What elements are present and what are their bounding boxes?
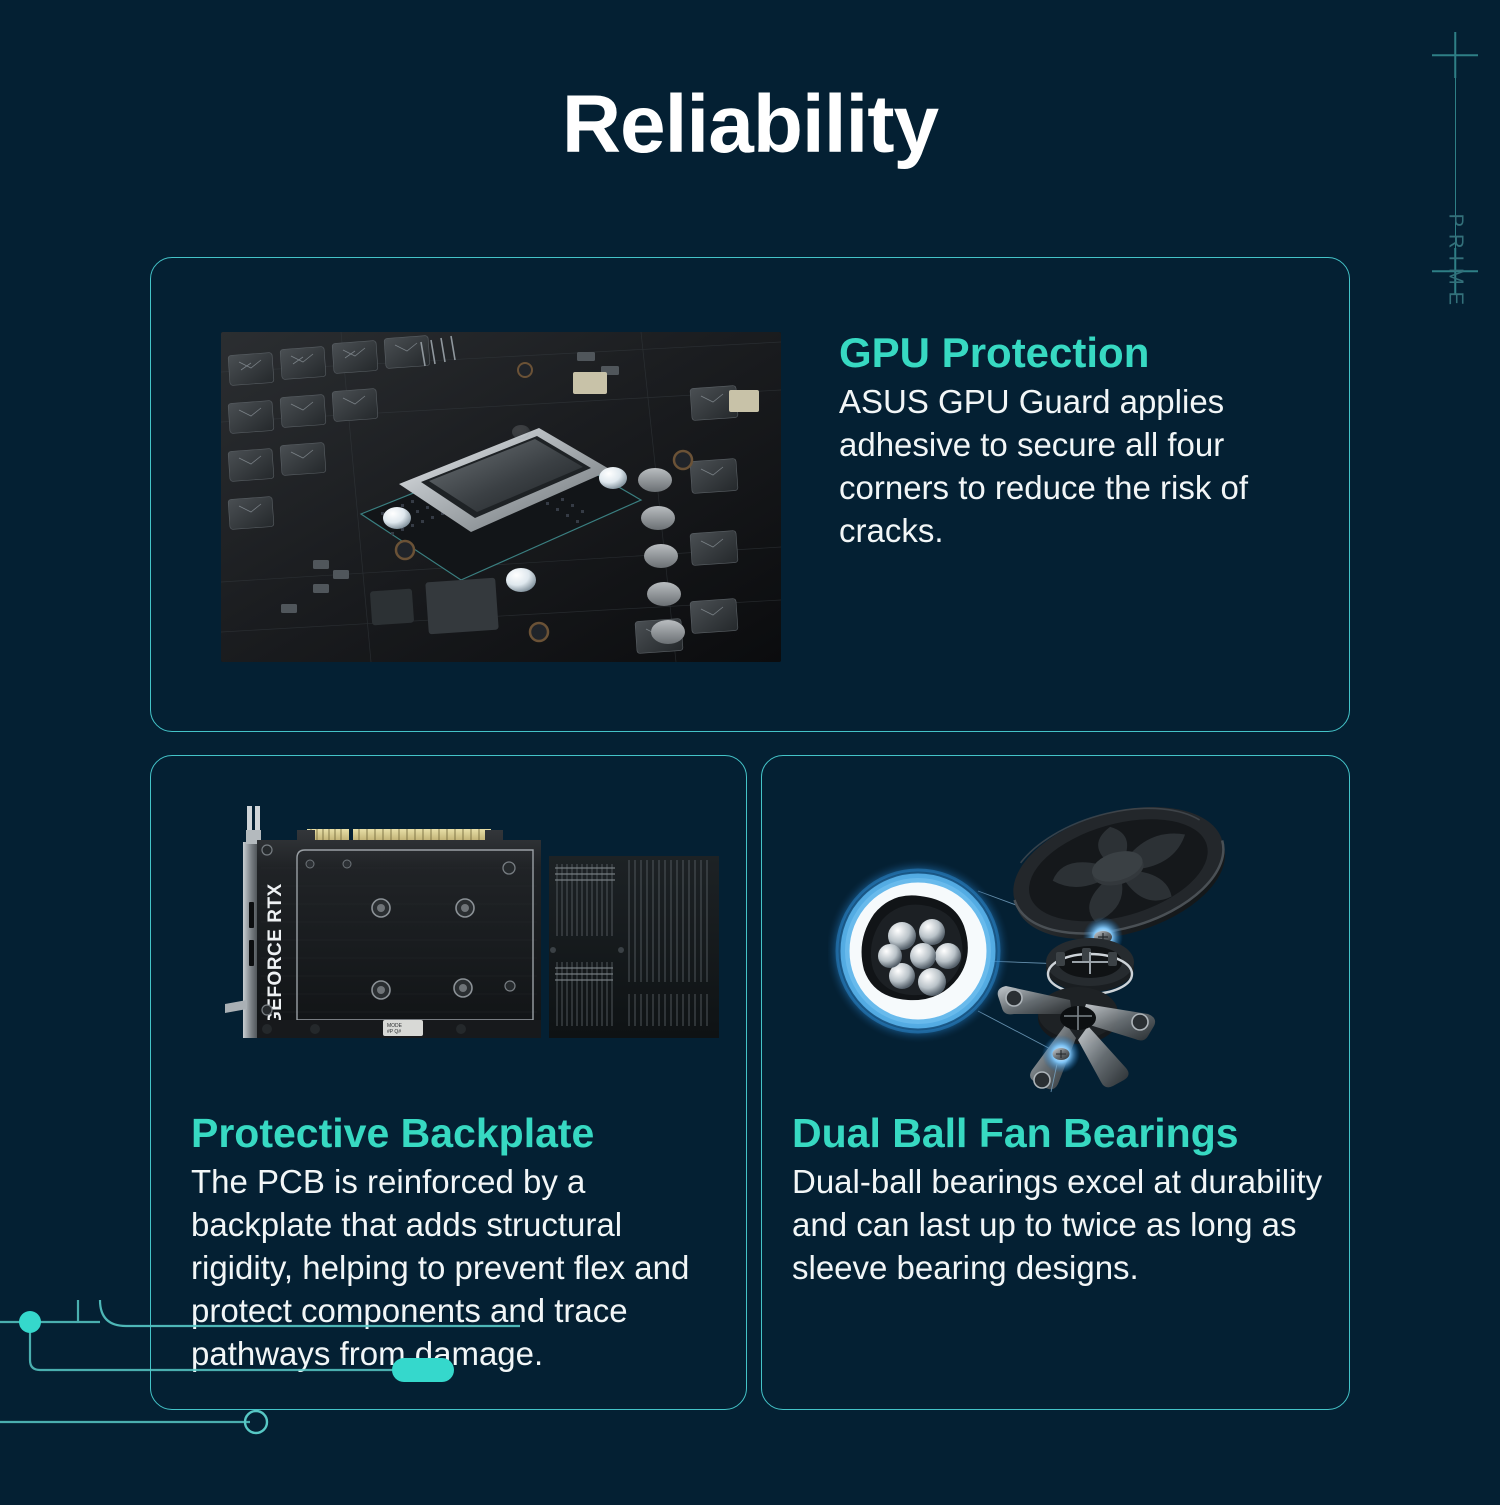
feature-card-gpu-protection: GPU Protection ASUS GPU Guard applies ad… xyxy=(150,257,1350,732)
circuit-filled-dot xyxy=(19,1311,41,1333)
dual-ball-fan-bearings-image xyxy=(828,796,1303,1096)
protective-backplate-body: The PCB is reinforced by a backplate tha… xyxy=(191,1161,731,1375)
dual-ball-fan-bearings-text-block: Dual Ball Fan Bearings Dual-ball bearing… xyxy=(792,1111,1352,1290)
feature-card-protective-backplate: GEFORCE RTX xyxy=(150,755,747,1410)
dual-ball-fan-bearings-heading: Dual Ball Fan Bearings xyxy=(792,1111,1352,1155)
gpu-protection-heading: GPU Protection xyxy=(839,330,1269,375)
page-title: Reliability xyxy=(0,0,1500,168)
gpu-protection-text-block: GPU Protection ASUS GPU Guard applies ad… xyxy=(839,330,1269,731)
brand-rail-label: PRIME xyxy=(1443,214,1466,312)
svg-text:#P Q#: #P Q# xyxy=(387,1029,401,1035)
protective-backplate-image: GEFORCE RTX xyxy=(197,798,719,1083)
gpu-protection-image xyxy=(221,332,781,662)
gpu-protection-body: ASUS GPU Guard applies adhesive to secur… xyxy=(839,381,1269,553)
plus-mark-icon xyxy=(1432,248,1478,294)
protective-backplate-text-block: Protective Backplate The PCB is reinforc… xyxy=(191,1111,731,1376)
protective-backplate-heading: Protective Backplate xyxy=(191,1111,731,1155)
circuit-hollow-circle xyxy=(245,1411,267,1433)
dual-ball-fan-bearings-body: Dual-ball bearings excel at durability a… xyxy=(792,1161,1352,1290)
feature-card-dual-ball-fan-bearings: Dual Ball Fan Bearings Dual-ball bearing… xyxy=(761,755,1350,1410)
